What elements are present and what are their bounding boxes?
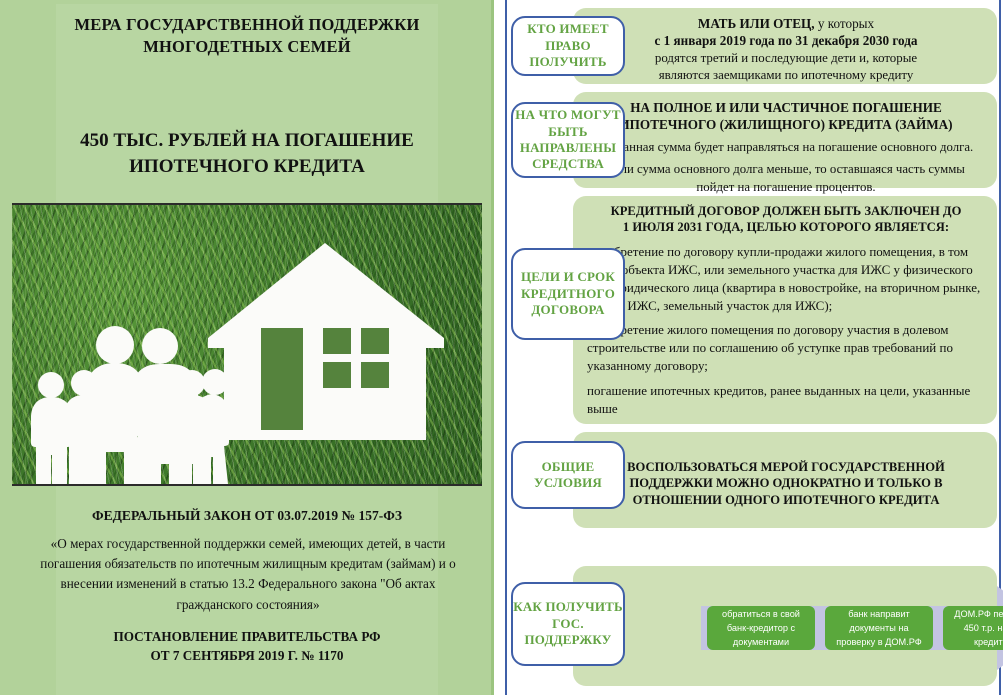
page-title-line-2: МНОГОДЕТНЫХ СЕМЕЙ [18,36,476,58]
section-who-headline-rest: у которых [815,16,875,31]
section-common-body: ВОСПОЛЬЗОВАТЬСЯ МЕРОЙ ГОСУДАРСТВЕННОЙ ПО… [573,432,997,516]
section-who-text-line-2: являются заемщиками по ипотечному кредит… [587,67,985,84]
badge-funds-purpose[interactable]: НА ЧТО МОГУТ БЫТЬ НАПРАВЛЕНЫ СРЕДСТВА [511,102,625,178]
section-goals-body: КРЕДИТНЫЙ ДОГОВОР ДОЛЖЕН БЫТЬ ЗАКЛЮЧЕН Д… [573,196,997,426]
government-decree-line-2: ОТ 7 СЕНТЯБРЯ 2019 Г. № 1170 [18,646,476,665]
family-house-photo [12,203,482,486]
section-funds-body: НА ПОЛНОЕ И ИЛИ ЧАСТИЧНОЕ ПОГАШЕНИЕ ИПОТ… [573,92,997,204]
section-how-to-obtain: обратиться в свой банк-кредитор с докуме… [511,566,997,686]
section-funds-panel: НА ПОЛНОЕ И ИЛИ ЧАСТИЧНОЕ ПОГАШЕНИЕ ИПОТ… [573,92,997,188]
right-panel: МАТЬ ИЛИ ОТЕЦ, у которых с 1 января 2019… [497,0,1003,695]
section-funds-text-2: Если сумма основного долга меньше, то ос… [587,161,985,196]
section-goals-item-1: приобретение по договору купли-продажи ж… [587,243,985,315]
government-decree: ПОСТАНОВЛЕНИЕ ПРАВИТЕЛЬСТВА РФ ОТ 7 СЕНТ… [18,627,476,665]
section-common-text-line-2: ПОДДЕРЖКИ МОЖНО ОДНОКРАТНО И ТОЛЬКО В [587,475,985,491]
flow-step-1[interactable]: обратиться в свой банк-кредитор с докуме… [707,606,815,650]
badge-common-conditions[interactable]: ОБЩИЕ УСЛОВИЯ [511,441,625,509]
section-goals-headline-line-2: 1 ИЮЛЯ 2031 ГОДА, ЦЕЛЬЮ КОТОРОГО ЯВЛЯЕТС… [587,219,985,235]
section-who-text-line-1: родятся третий и последующие дети и, кот… [587,50,985,67]
federal-law-body: «О мерах государственной поддержки семей… [28,534,468,615]
section-common-text-line-3: ОТНОШЕНИИ ОДНОГО ИПОТЕЧНОГО КРЕДИТА [587,492,985,508]
section-who-panel: МАТЬ ИЛИ ОТЕЦ, у которых с 1 января 2019… [573,8,997,84]
paper-cutout-shapes [12,205,482,486]
amount-headline-line-1: 450 ТЫС. РУБЛЕЙ НА ПОГАШЕНИЕ [18,128,476,154]
amount-headline: 450 ТЫС. РУБЛЕЙ НА ПОГАШЕНИЕ ИПОТЕЧНОГО … [18,128,476,179]
section-who-headline: МАТЬ ИЛИ ОТЕЦ, у которых [587,15,985,32]
section-common-text-line-1: ВОСПОЛЬЗОВАТЬСЯ МЕРОЙ ГОСУДАРСТВЕННОЙ [587,459,985,475]
process-flow-diagram: обратиться в свой банк-кредитор с докуме… [701,584,1003,672]
left-panel: МЕРА ГОСУДАРСТВЕННОЙ ПОДДЕРЖКИ МНОГОДЕТН… [0,0,494,695]
section-goals-item-2: приобретение жилого помещения по договор… [587,321,985,375]
section-who-headline-bold: МАТЬ ИЛИ ОТЕЦ, [698,16,815,31]
flow-step-3[interactable]: ДОМ.РФ переведет 450 т.р. на счет кредит… [943,606,1003,650]
badge-how-to-obtain[interactable]: КАК ПОЛУЧИТЬ ГОС. ПОДДЕРЖКУ [511,582,625,666]
federal-law-heading: ФЕДЕРАЛЬНЫЙ ЗАКОН ОТ 03.07.2019 № 157-ФЗ [18,508,476,524]
section-howto-panel: обратиться в свой банк-кредитор с докуме… [573,566,997,686]
section-funds-text-1: Указанная сумма будет направляться на по… [587,139,985,156]
section-common-conditions: ВОСПОЛЬЗОВАТЬСЯ МЕРОЙ ГОСУДАРСТВЕННОЙ ПО… [511,432,997,528]
section-who-dates: с 1 января 2019 года по 31 декабря 2030 … [587,32,985,49]
section-common-panel: ВОСПОЛЬЗОВАТЬСЯ МЕРОЙ ГОСУДАРСТВЕННОЙ ПО… [573,432,997,528]
amount-headline-line-2: ИПОТЕЧНОГО КРЕДИТА [18,154,476,180]
section-goals-and-term: КРЕДИТНЫЙ ДОГОВОР ДОЛЖЕН БЫТЬ ЗАКЛЮЧЕН Д… [511,196,997,424]
badge-goals-and-term[interactable]: ЦЕЛИ И СРОК КРЕДИТНОГО ДОГОВОРА [511,248,625,340]
section-goals-panel: КРЕДИТНЫЙ ДОГОВОР ДОЛЖЕН БЫТЬ ЗАКЛЮЧЕН Д… [573,196,997,424]
section-goals-headline-line-1: КРЕДИТНЫЙ ДОГОВОР ДОЛЖЕН БЫТЬ ЗАКЛЮЧЕН Д… [587,203,985,219]
badge-who-is-eligible[interactable]: КТО ИМЕЕТ ПРАВО ПОЛУЧИТЬ [511,16,625,76]
section-funds-purpose: НА ПОЛНОЕ И ИЛИ ЧАСТИЧНОЕ ПОГАШЕНИЕ ИПОТ… [511,92,997,188]
infographic-page: МЕРА ГОСУДАРСТВЕННОЙ ПОДДЕРЖКИ МНОГОДЕТН… [0,0,1003,695]
section-who-is-eligible: МАТЬ ИЛИ ОТЕЦ, у которых с 1 января 2019… [511,8,997,84]
left-vertical-rule [505,0,507,695]
section-who-body: МАТЬ ИЛИ ОТЕЦ, у которых с 1 января 2019… [573,8,997,92]
section-goals-item-3: погашение ипотечных кредитов, ранее выда… [587,382,985,418]
section-funds-headline-line-2: ИПОТЕЧНОГО (ЖИЛИЩНОГО) КРЕДИТА (ЗАЙМА) [587,116,985,133]
page-title-line-1: МЕРА ГОСУДАРСТВЕННОЙ ПОДДЕРЖКИ [18,14,476,36]
page-title: МЕРА ГОСУДАРСТВЕННОЙ ПОДДЕРЖКИ МНОГОДЕТН… [18,14,476,59]
government-decree-line-1: ПОСТАНОВЛЕНИЕ ПРАВИТЕЛЬСТВА РФ [18,627,476,646]
flow-step-2[interactable]: банк направит документы на проверку в ДО… [825,606,933,650]
section-funds-headline-line-1: НА ПОЛНОЕ И ИЛИ ЧАСТИЧНОЕ ПОГАШЕНИЕ [587,99,985,116]
